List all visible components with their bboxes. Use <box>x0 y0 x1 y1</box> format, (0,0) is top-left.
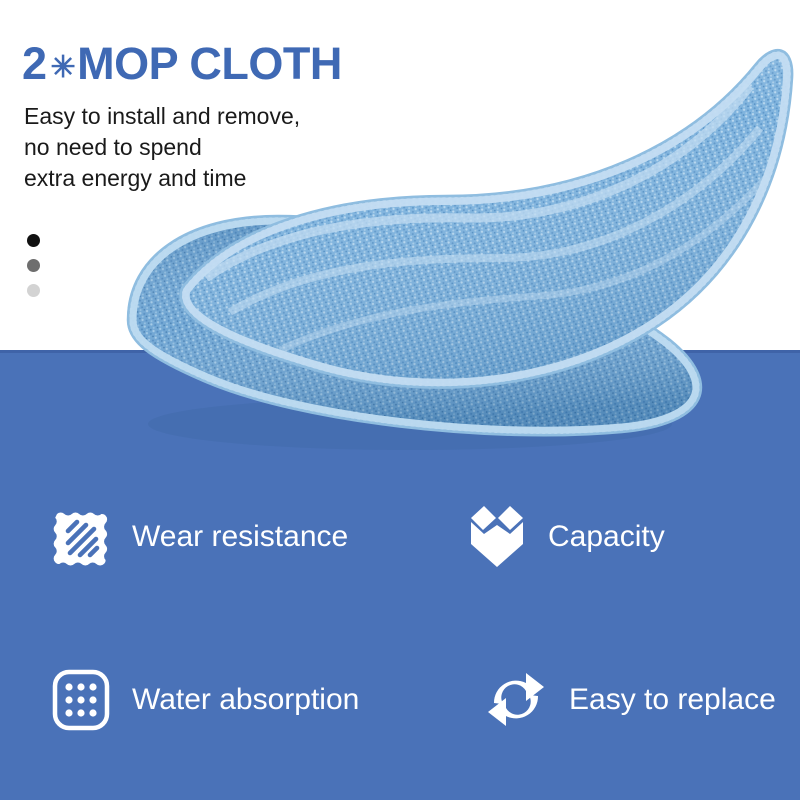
feature-label: Wear resistance <box>132 520 348 554</box>
subtitle-text: Easy to install and remove, no need to s… <box>24 101 300 194</box>
dot-active[interactable] <box>27 234 40 247</box>
refresh-cycle-icon <box>483 666 549 734</box>
water-droplet-grid-icon <box>50 666 112 734</box>
feature-label: Capacity <box>548 520 665 554</box>
product-feature-image: 2✳MOP CLOTH Easy to install and remove, … <box>0 0 800 800</box>
open-box-icon <box>466 503 528 571</box>
pager-dots[interactable] <box>27 234 40 309</box>
asterisk-icon: ✳ <box>51 51 76 84</box>
dot-third[interactable] <box>27 284 40 297</box>
title-quantity: 2 <box>22 38 47 89</box>
feature-grid: Wear resistance Capacity <box>0 470 800 800</box>
dot-second[interactable] <box>27 259 40 272</box>
feature-easy-to-replace: Easy to replace <box>483 666 776 734</box>
feature-capacity: Capacity <box>466 503 665 571</box>
title-text: MOP CLOTH <box>77 38 342 89</box>
page-title: 2✳MOP CLOTH <box>22 36 342 96</box>
feature-wear-resistance: Wear resistance <box>50 503 348 571</box>
feature-label: Easy to replace <box>569 683 776 717</box>
feature-label: Water absorption <box>132 683 359 717</box>
feature-water-absorption: Water absorption <box>50 666 359 734</box>
fabric-swatch-icon <box>50 503 112 571</box>
